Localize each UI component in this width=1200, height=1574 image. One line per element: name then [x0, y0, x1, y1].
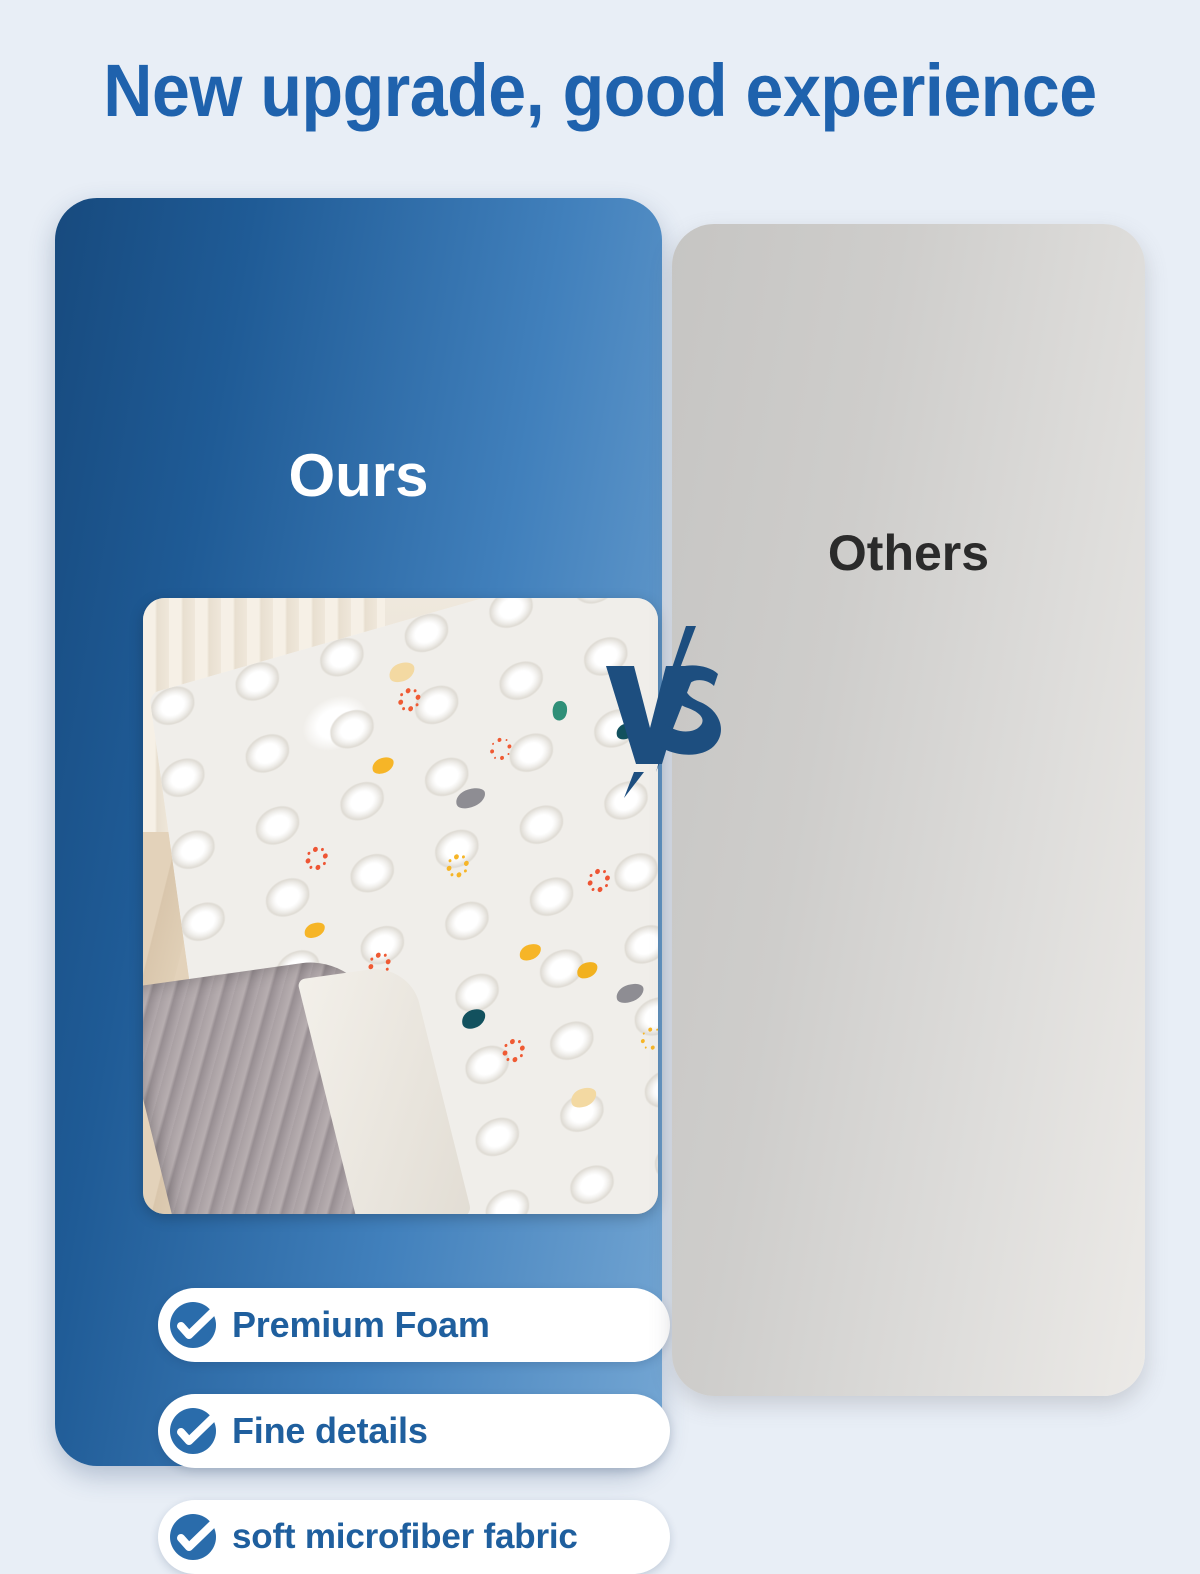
- ours-feature-2: Fine details: [158, 1394, 670, 1468]
- others-card: Others: [672, 224, 1145, 1396]
- vs-badge: [600, 622, 728, 798]
- ours-feature-label: Premium Foam: [232, 1304, 490, 1346]
- ours-feature-1: Premium Foam: [158, 1288, 670, 1362]
- ours-room-scene: [143, 598, 658, 1214]
- ours-card: Ours: [55, 198, 662, 1466]
- ours-feature-label: soft microfiber fabric: [232, 1517, 578, 1557]
- ours-heading: Ours: [55, 441, 662, 511]
- ours-feature-3: soft microfiber fabric: [158, 1500, 670, 1574]
- check-circle-icon: [172, 1300, 222, 1350]
- check-circle-icon: [172, 1512, 222, 1562]
- others-heading: Others: [672, 524, 1145, 582]
- check-circle-icon: [172, 1406, 222, 1456]
- ours-feature-label: Fine details: [232, 1410, 428, 1452]
- page-title: New upgrade, good experience: [48, 48, 1152, 134]
- ours-product-photo: [143, 598, 658, 1214]
